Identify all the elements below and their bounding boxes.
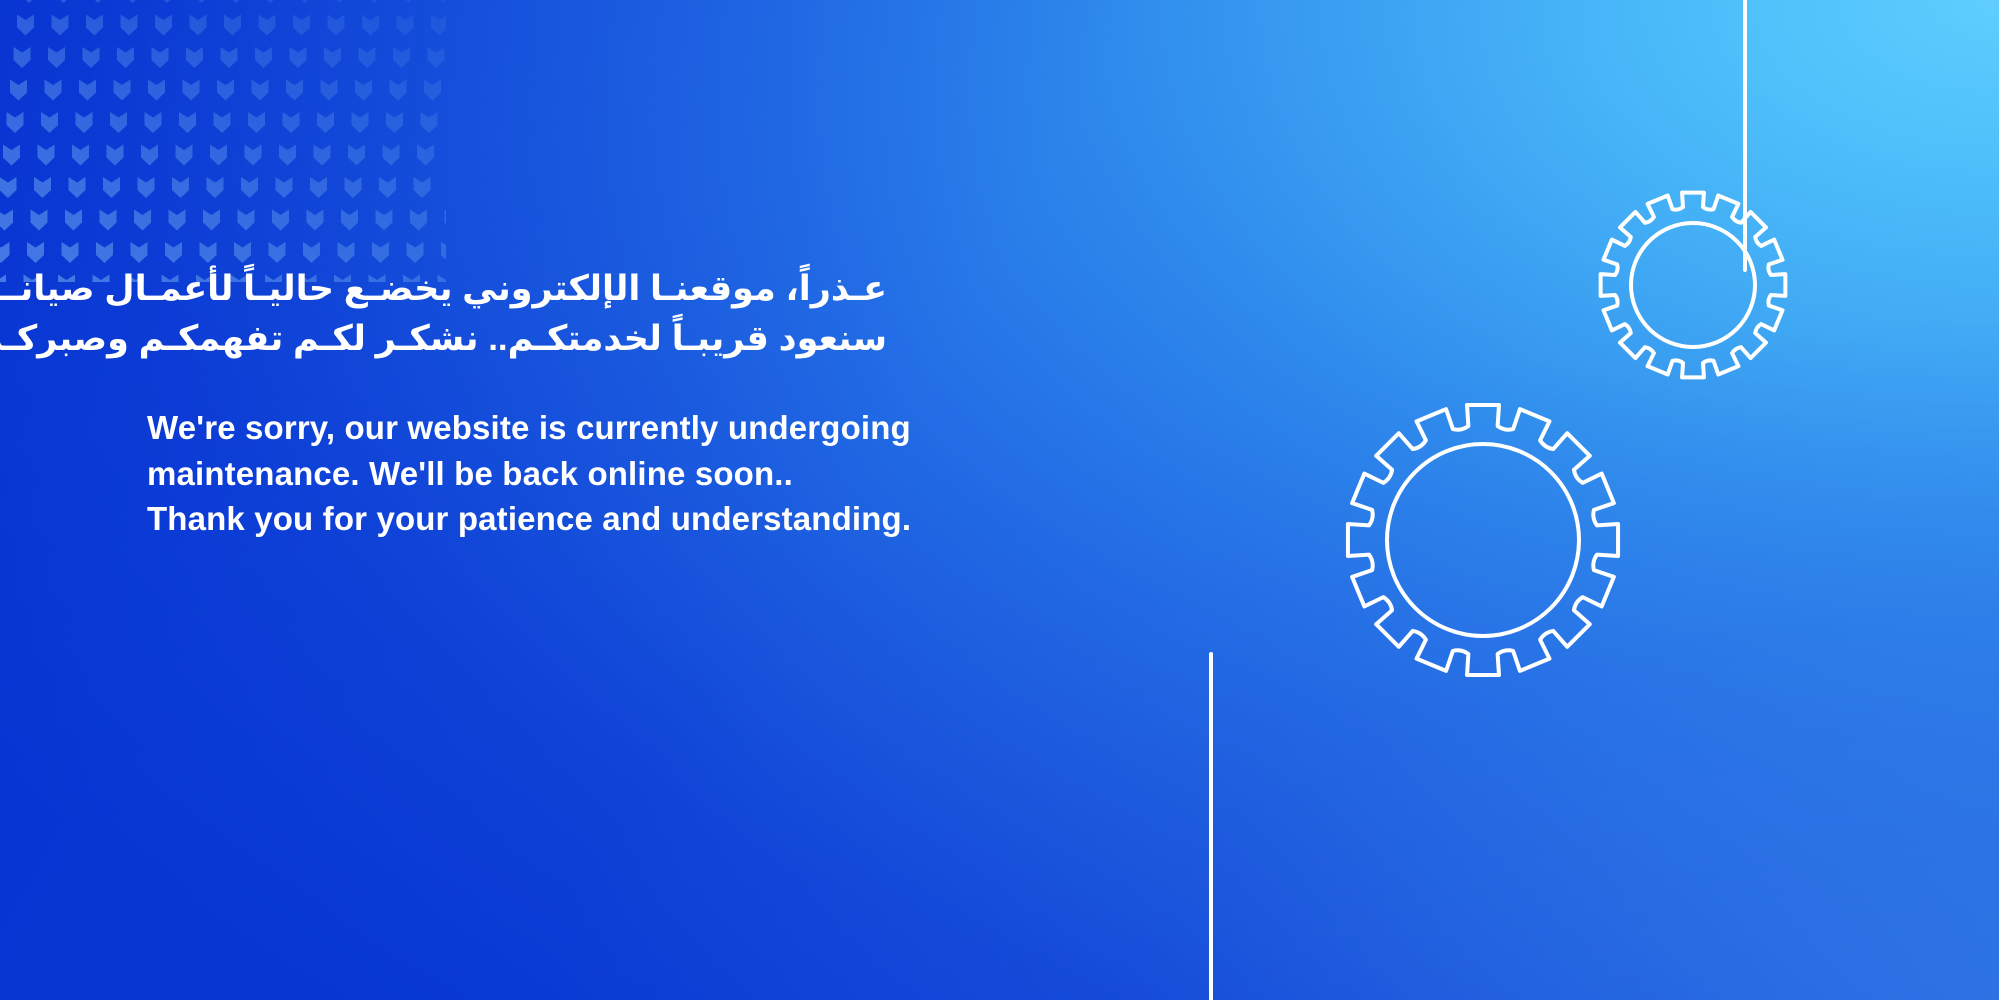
arabic-message: عـذراً، موقعنـا الإلكتروني يخضـع حاليـاً… — [147, 264, 887, 363]
english-line-2: maintenance. We'll be back online soon.. — [147, 451, 1047, 496]
arabic-line-1: عـذراً، موقعنـا الإلكتروني يخضـع حاليـاً… — [147, 264, 887, 314]
message-block: عـذراً، موقعنـا الإلكتروني يخضـع حاليـاً… — [147, 264, 1047, 541]
english-line-1: We're sorry, our website is currently un… — [147, 405, 1047, 450]
arabic-line-2: سنعود قريبـاً لخدمتكـم.. نشكـر لكـم تفهم… — [147, 314, 887, 364]
english-line-3: Thank you for your patience and understa… — [147, 496, 1047, 541]
maintenance-page: عـذراً، موقعنـا الإلكتروني يخضـع حاليـاً… — [0, 0, 1999, 1000]
english-message: We're sorry, our website is currently un… — [147, 405, 1047, 541]
